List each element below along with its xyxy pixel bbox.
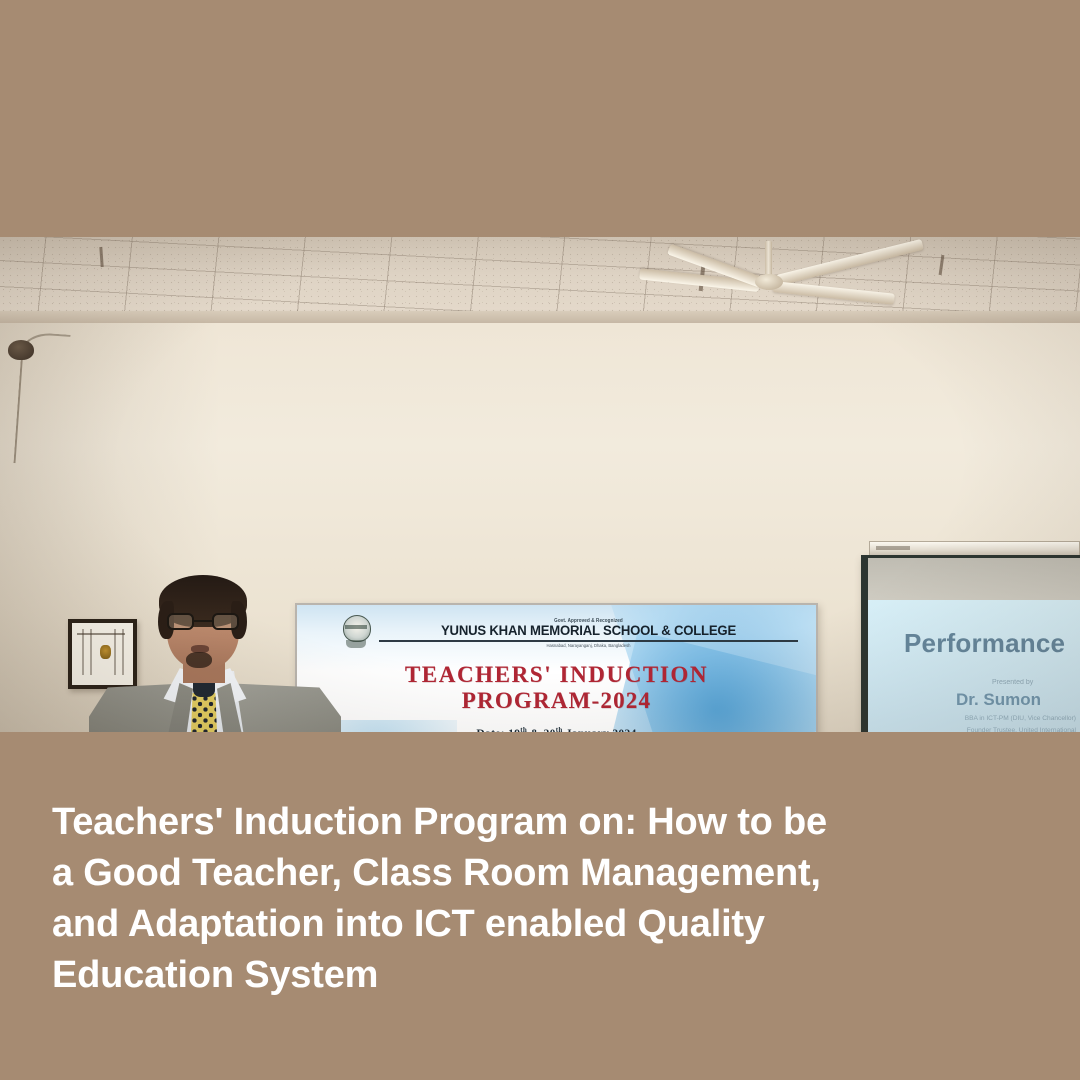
- banner-school-address: Hasnabad, Narayanganj, Dhaka, Bangladesh: [379, 643, 798, 648]
- fan-blade: [776, 239, 924, 286]
- lens-left: [167, 613, 194, 630]
- event-photo: Govt. Approved & Recognized YUNUS KHAN M…: [0, 237, 1080, 732]
- banner-title: TEACHERS' INDUCTION PROGRAM-2024: [315, 662, 798, 714]
- caption-line-4: Education System: [52, 950, 892, 1001]
- banner-date: Date: 19th & 20th January 2024: [315, 726, 798, 733]
- slide-presenter-label: Presented by: [868, 679, 1080, 686]
- wall-mounted-speaker: [8, 340, 34, 360]
- banner-header: Govt. Approved & Recognized YUNUS KHAN M…: [315, 615, 798, 651]
- caption-line-3: and Adaptation into ICT enabled Quality: [52, 899, 892, 950]
- school-title-block: Govt. Approved & Recognized YUNUS KHAN M…: [379, 618, 798, 648]
- ceiling-fan-icon: [733, 241, 973, 311]
- caption-line-1: Teachers' Induction Program on: How to b…: [52, 797, 892, 848]
- frame-text-column: [82, 629, 84, 675]
- eyeglasses-icon: [167, 613, 239, 630]
- screen-surface: Performance Presented by Dr. Sumon BBA i…: [868, 558, 1080, 732]
- necktie: [189, 693, 219, 732]
- fan-blade: [772, 281, 894, 305]
- slide-top-strip: [868, 558, 1080, 600]
- slide-title: Performance: [868, 628, 1080, 659]
- page-title: Teachers' Induction Program on: How to b…: [52, 797, 892, 1001]
- banner-date-suffix: January 2024: [563, 726, 637, 732]
- banner-school-name: YUNUS KHAN MEMORIAL SCHOOL & COLLEGE: [383, 623, 794, 638]
- banner-date-sup-2: th: [556, 726, 563, 733]
- lens-right: [212, 613, 239, 630]
- speaker-person: [85, 567, 365, 732]
- slide-detail-line: Founder Trustee, United International: [868, 727, 1080, 732]
- glasses-bridge: [194, 620, 212, 622]
- caption-line-2: a Good Teacher, Class Room Management,: [52, 848, 892, 899]
- banner-date-prefix: Date: 19: [476, 726, 520, 732]
- banner-date-middle: & 20: [527, 726, 556, 732]
- slide-detail-line: BBA in ICT-PM (DIU, Vice Chancellor): [868, 715, 1080, 722]
- social-media-card: Govt. Approved & Recognized YUNUS KHAN M…: [0, 0, 1080, 1080]
- banner-title-line-1: TEACHERS' INDUCTION: [315, 662, 798, 688]
- goatee: [186, 652, 212, 668]
- banner-rule: [379, 640, 798, 642]
- banner-content: Govt. Approved & Recognized YUNUS KHAN M…: [297, 605, 816, 732]
- projector-screen: Performance Presented by Dr. Sumon BBA i…: [861, 555, 1080, 732]
- projected-slide: Performance Presented by Dr. Sumon BBA i…: [868, 600, 1080, 732]
- fan-hub: [755, 274, 783, 290]
- event-banner: Govt. Approved & Recognized YUNUS KHAN M…: [295, 603, 818, 732]
- slide-presenter-name: Dr. Sumon: [868, 690, 1080, 710]
- banner-title-line-2: PROGRAM-2024: [315, 688, 798, 714]
- housing-slot: [876, 546, 910, 550]
